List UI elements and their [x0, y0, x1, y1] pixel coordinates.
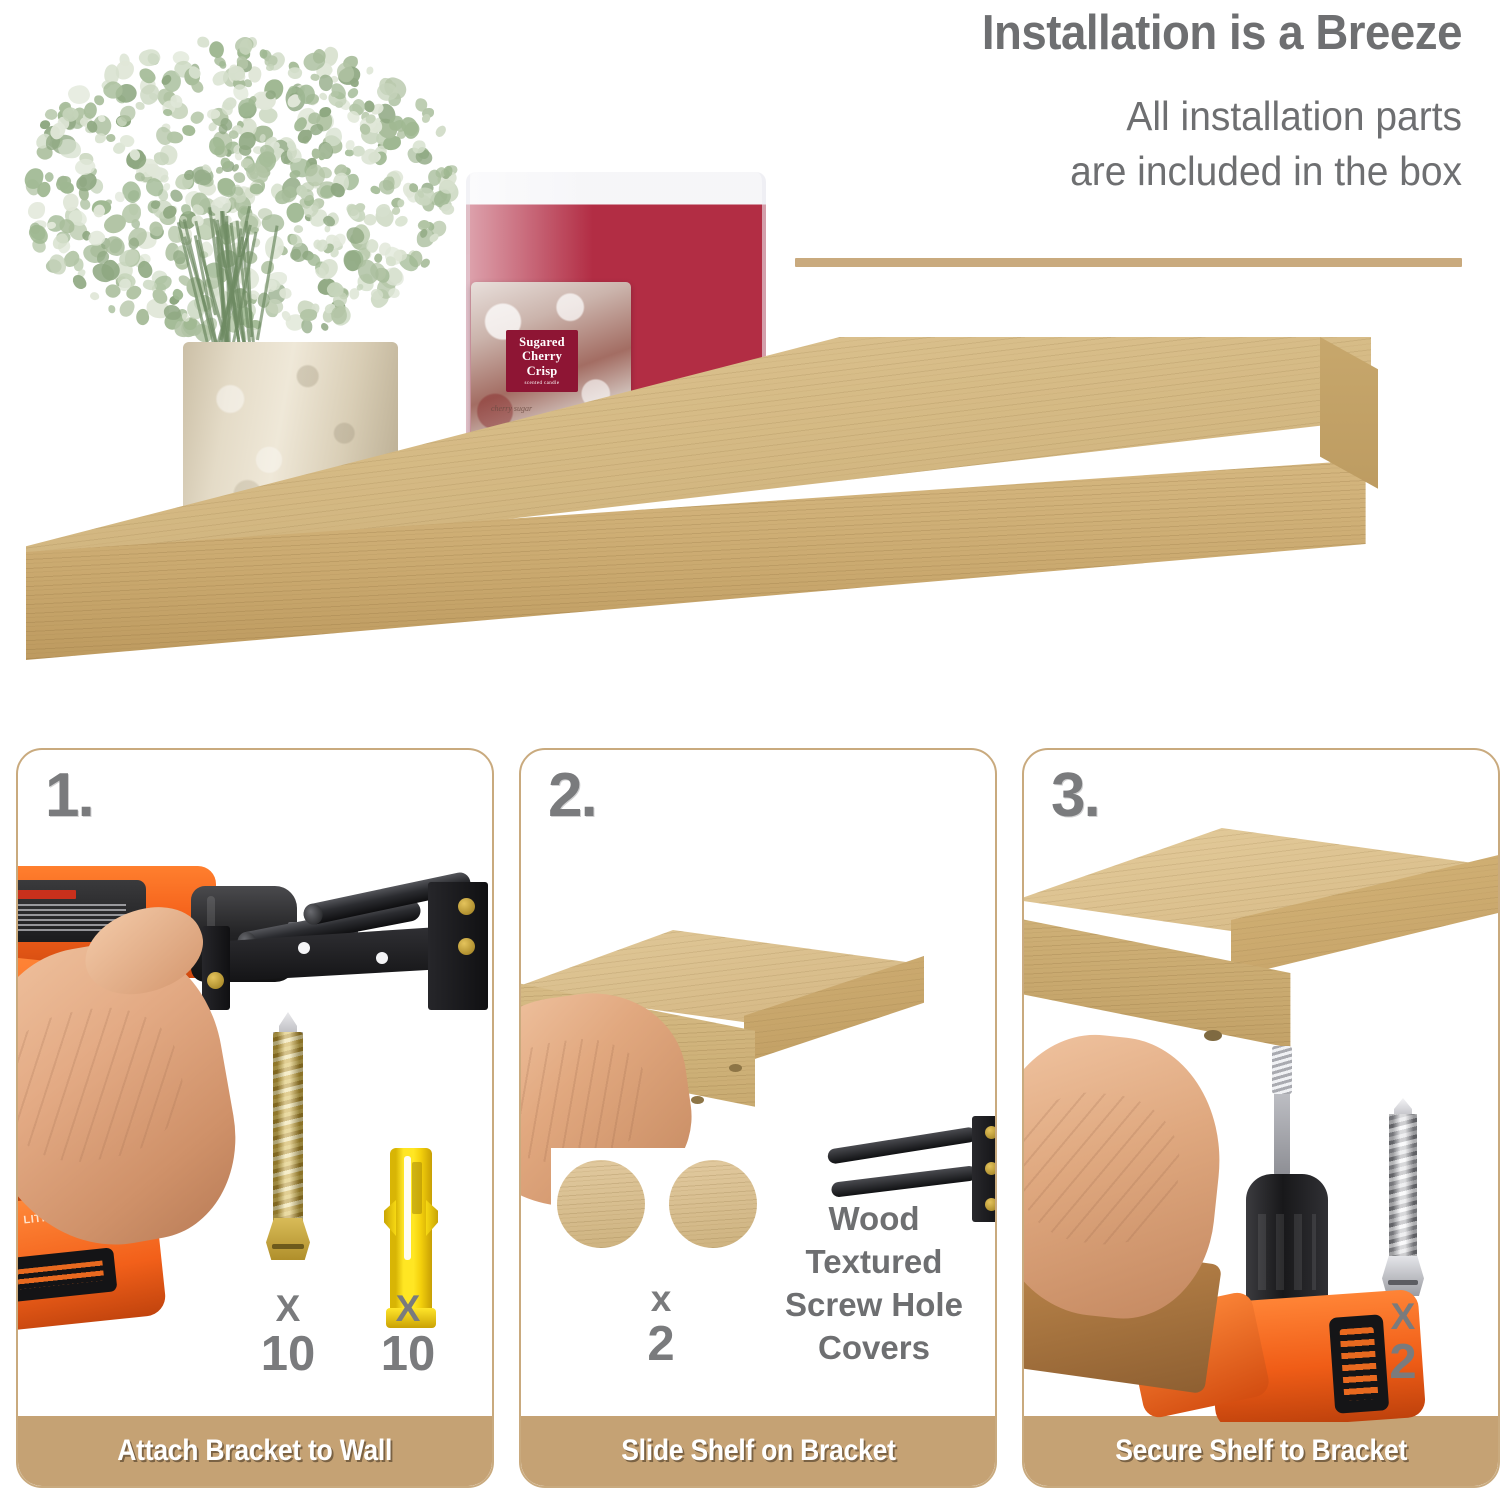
plant-leaf — [440, 203, 455, 216]
step-2-caption-text: Slide Shelf on Bracket — [621, 1434, 895, 1468]
step-panel-2: 2. — [519, 748, 997, 1488]
plant-leaf — [105, 134, 116, 144]
step-number-1: 1. — [45, 760, 93, 831]
plant-leaf — [266, 64, 274, 71]
bracket-hole — [298, 942, 310, 954]
anchor-rib — [412, 1162, 422, 1214]
plant-leaf — [169, 188, 185, 204]
header-text-block: Installation is a Breeze All installatio… — [762, 8, 1462, 198]
qty-number: 2 — [625, 1319, 697, 1370]
step-3-caption: Secure Shelf to Bracket — [1024, 1416, 1498, 1486]
anchor-quantity: X 10 — [372, 1290, 444, 1380]
screw-hole-cover — [557, 1160, 645, 1248]
plant-leaf — [77, 197, 91, 211]
screw-head — [266, 1218, 310, 1260]
screw-hole-covers-group — [551, 1148, 767, 1260]
step-2-illustration: x 2 Wood Textured Screw Hole Covers — [521, 750, 995, 1422]
plant-leaf — [301, 319, 312, 333]
plant-leaf — [319, 322, 329, 332]
plant-leaf — [161, 108, 172, 118]
plant-leaf — [88, 290, 100, 302]
qty-number: 10 — [372, 1329, 444, 1380]
step-panel-1: 1. — [16, 748, 494, 1488]
plant-leaf — [299, 308, 317, 322]
candle-name-line2: Cherry — [522, 349, 562, 364]
candle-subtitle: scented candle — [525, 381, 560, 387]
plant-leaf — [170, 94, 183, 107]
plant-leaf — [220, 157, 231, 169]
shelf-screw-hole — [1204, 1030, 1222, 1041]
candle-name-line3: Crisp — [527, 364, 558, 379]
plant-leaf — [182, 124, 196, 137]
step-3-illustration: X 2 — [1024, 750, 1498, 1422]
step-1-caption: Attach Bracket to Wall — [18, 1416, 492, 1486]
header-subtitle-line1: All installation parts — [797, 89, 1462, 144]
candle-name-line1: Sugared — [519, 335, 565, 350]
bracket-screw — [458, 938, 475, 955]
covers-description-line4: Covers — [763, 1327, 985, 1370]
screw-quantity: X 2 — [1367, 1298, 1439, 1388]
bracket-screw — [458, 898, 475, 915]
plant-leaf — [59, 219, 74, 233]
covers-description: Wood Textured Screw Hole Covers — [763, 1198, 985, 1370]
plant-leaf — [71, 272, 89, 291]
bracket-screw — [207, 972, 224, 989]
covers-description-line3: Screw Hole — [763, 1284, 985, 1327]
bracket-screw — [985, 1162, 995, 1175]
plant-leaf — [95, 133, 106, 143]
bracket-screw — [985, 1126, 995, 1139]
plant-leaf — [207, 40, 227, 60]
candle-script-text: cherry sugar — [491, 404, 532, 413]
drill-chuck — [1246, 1174, 1328, 1314]
plant-leaf — [393, 213, 409, 229]
screw-being-driven — [1274, 1046, 1290, 1176]
plant-leaf — [188, 109, 205, 127]
step-number-2: 2. — [548, 760, 596, 831]
step-1-caption-text: Attach Bracket to Wall — [118, 1434, 393, 1468]
anchor-slot — [404, 1156, 411, 1260]
plant-leaf — [331, 90, 339, 97]
wall-bracket — [208, 882, 488, 1012]
qty-number: 10 — [252, 1329, 324, 1380]
plant-leaf — [421, 113, 430, 123]
qty-number: 2 — [1367, 1337, 1439, 1388]
shelf-screw-hole — [691, 1096, 704, 1104]
bracket-screw — [985, 1198, 995, 1211]
step-panel-3: 3. X — [1022, 748, 1500, 1488]
wood-screw — [266, 1012, 310, 1264]
installation-steps: 1. — [0, 748, 1500, 1493]
step-number-3: 3. — [1051, 760, 1099, 831]
step-2-caption: Slide Shelf on Bracket — [521, 1416, 995, 1486]
qty-multiplier: X — [1367, 1298, 1439, 1337]
header-subtitle-line2: are included in the box — [797, 144, 1462, 199]
bracket-wall-plate — [428, 882, 488, 1010]
brand-badge — [18, 1247, 118, 1302]
anchor-wing — [426, 1200, 438, 1236]
screw-hole-cover — [669, 1160, 757, 1248]
plant-leaf — [118, 298, 136, 318]
bracket-hole — [376, 952, 388, 964]
covers-description-line1: Wood — [763, 1198, 985, 1241]
page-title: Installation is a Breeze — [811, 8, 1462, 59]
plant-leaf — [434, 124, 449, 139]
screw-quantity: X 10 — [252, 1290, 324, 1380]
plant-leaf — [28, 202, 46, 220]
screw-shaft — [273, 1032, 303, 1224]
plant-leaf — [386, 256, 396, 266]
plant-leaf — [154, 152, 170, 166]
artificial-plant — [8, 4, 478, 364]
plant-leaf — [217, 59, 227, 69]
qty-multiplier: X — [252, 1290, 324, 1329]
qty-multiplier: x — [625, 1280, 697, 1319]
hero-section: Sugared Cherry Crisp scented candle cher… — [0, 0, 1500, 700]
header-divider — [795, 258, 1462, 267]
shelf-screw-hole — [729, 1064, 742, 1072]
warning-stripe — [18, 890, 76, 899]
step-1-illustration: LITHIUM X 1 — [18, 750, 492, 1422]
cordless-drill — [1204, 1070, 1498, 1422]
plant-leaf — [318, 91, 328, 102]
plant-leaf — [391, 206, 401, 216]
qty-multiplier: X — [372, 1290, 444, 1329]
plant-leaf — [136, 46, 162, 70]
cover-quantity: x 2 — [625, 1280, 697, 1370]
header-subtitle: All installation parts are included in t… — [797, 89, 1462, 198]
plant-leaf — [366, 67, 374, 75]
bracket-end-plate — [202, 926, 230, 1010]
covers-description-line2: Textured — [763, 1241, 985, 1284]
plant-leaf — [197, 37, 209, 48]
plant-leaf — [107, 305, 115, 313]
plant-leaf — [164, 304, 181, 319]
plant-leaf — [397, 199, 405, 208]
candle-name-badge: Sugared Cherry Crisp scented candle — [506, 330, 578, 392]
step-3-caption-text: Secure Shelf to Bracket — [1115, 1434, 1407, 1468]
